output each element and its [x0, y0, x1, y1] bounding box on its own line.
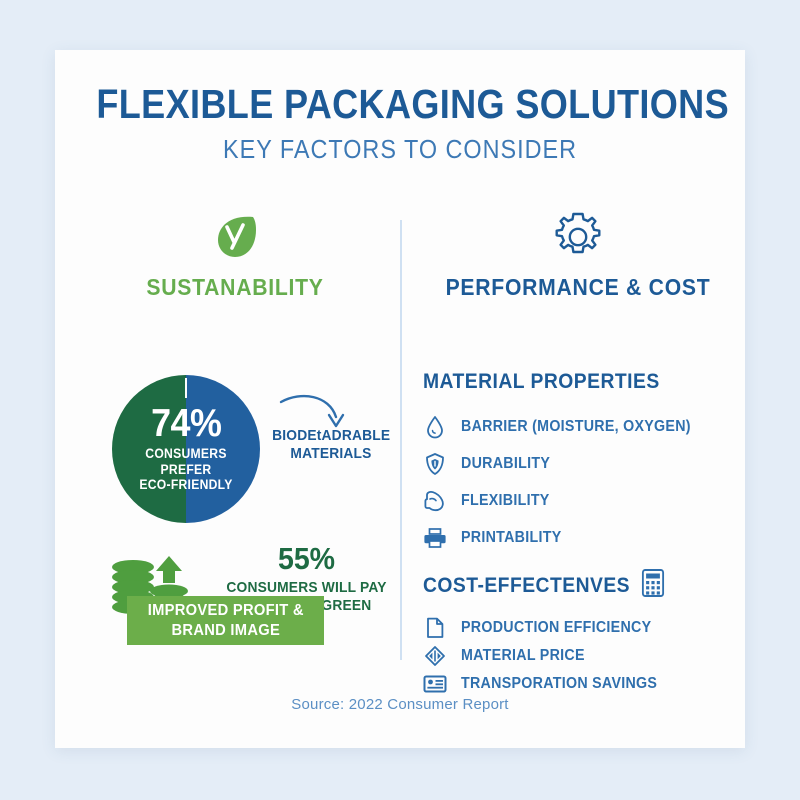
list-item[interactable]: MATERIAL PRICE	[423, 642, 686, 670]
pie-caption-line-1: CONSUMERS PREFER	[119, 446, 252, 477]
list-item-label: FLEXIBILITY	[461, 492, 550, 510]
pay-more-percent-value: 55%	[225, 543, 388, 574]
printer-icon	[423, 527, 447, 549]
banner-line-1: IMPROVED PROFIT &	[148, 601, 304, 620]
column-divider	[400, 220, 402, 660]
material-properties-heading: MATERIAL PROPERTIES	[423, 370, 688, 394]
improved-profit-banner: IMPROVED PROFIT & BRAND IMAGE	[127, 596, 324, 645]
infographic-card: FLEXIBLE PACKAGING SOLUTIONS KEY FACTORS…	[55, 50, 745, 748]
document-icon	[423, 617, 447, 639]
sustainability-column: SUSTANABILITY	[75, 210, 395, 301]
sustainability-label: SUSTANABILITY	[88, 274, 382, 301]
sustainability-header: SUSTANABILITY	[75, 210, 395, 301]
pie-percent-value: 74%	[151, 405, 221, 442]
cost-effectiveness-heading: COST-EFFECTENVES	[423, 574, 630, 598]
infographic-canvas: FLEXIBLE PACKAGING SOLUTIONS KEY FACTORS…	[0, 0, 800, 800]
material-properties-list: BARRIER (MOISTURE, OXYGEN) DURABILITY	[423, 408, 711, 556]
id-card-icon	[423, 675, 447, 693]
flexed-bicep-icon	[423, 489, 447, 513]
pie-caption-line-2: ECO-FRIENDLY	[119, 477, 252, 492]
pie-caption: CONSUMERS PREFER ECO-FRIENDLY	[119, 446, 252, 492]
cost-effectiveness-list: PRODUCTION EFFICIENCY MATERIAL PRICE	[423, 614, 686, 698]
pie-center-label: 74% CONSUMERS PREFER ECO-FRIENDLY	[112, 375, 260, 523]
list-item-label: BARRIER (MOISTURE, OXYGEN)	[461, 418, 691, 436]
eco-preference-pie-chart: 74% CONSUMERS PREFER ECO-FRIENDLY	[112, 375, 260, 523]
list-item-label: PRODUCTION EFFICIENCY	[461, 619, 651, 637]
cost-effectiveness-heading-row: COST-EFFECTENVES	[423, 568, 665, 604]
calculator-icon	[641, 568, 665, 604]
list-item[interactable]: PRINTABILITY	[423, 519, 711, 556]
eco-preference-chart-row: 74% CONSUMERS PREFER ECO-FRIENDLY BIODEt…	[75, 375, 395, 525]
banner-line-2: BRAND IMAGE	[148, 621, 304, 640]
list-item-label: MATERIAL PRICE	[461, 647, 585, 665]
list-item[interactable]: TRANSPORATION SAVINGS	[423, 670, 686, 698]
list-item-label: TRANSPORATION SAVINGS	[461, 675, 657, 693]
source-note: Source: 2022 Consumer Report	[55, 696, 745, 713]
list-item[interactable]: FLEXIBILITY	[423, 482, 711, 519]
list-item-label: PRINTABILITY	[461, 529, 561, 547]
page-subtitle: KEY FACTORS TO CONSIDER	[90, 134, 711, 165]
leaf-icon	[75, 210, 395, 264]
biodegradable-callout: BIODEtADRABLE MATERIALS	[267, 427, 395, 462]
cost-effectiveness-block: COST-EFFECTENVES	[423, 568, 686, 698]
list-item-label: DURABILITY	[461, 455, 550, 473]
page-title: FLEXIBLE PACKAGING SOLUTIONS	[96, 83, 703, 126]
performance-cost-label: PERFORMANCE & COST	[435, 274, 720, 301]
banner-text: IMPROVED PROFIT & BRAND IMAGE	[148, 601, 304, 639]
price-diamond-icon	[423, 645, 447, 667]
list-item[interactable]: PRODUCTION EFFICIENCY	[423, 614, 686, 642]
list-item[interactable]: BARRIER (MOISTURE, OXYGEN)	[423, 408, 711, 445]
performance-cost-column: PERFORMANCE & COST	[423, 210, 733, 301]
pay-more-caption-line-1: CONSUMERS WILL PAY	[225, 579, 388, 597]
list-item[interactable]: DURABILITY	[423, 445, 711, 482]
material-properties-block: MATERIAL PROPERTIES BARRIER (MOISTURE, O…	[423, 370, 711, 556]
droplet-icon	[423, 415, 447, 439]
gear-icon	[423, 210, 733, 264]
header: FLEXIBLE PACKAGING SOLUTIONS KEY FACTORS…	[55, 83, 745, 165]
callout-line-1: BIODEtADRABLE	[272, 427, 390, 445]
performance-cost-header: PERFORMANCE & COST	[423, 210, 733, 301]
shield-icon	[423, 452, 447, 476]
callout-line-2: MATERIALS	[272, 445, 390, 463]
